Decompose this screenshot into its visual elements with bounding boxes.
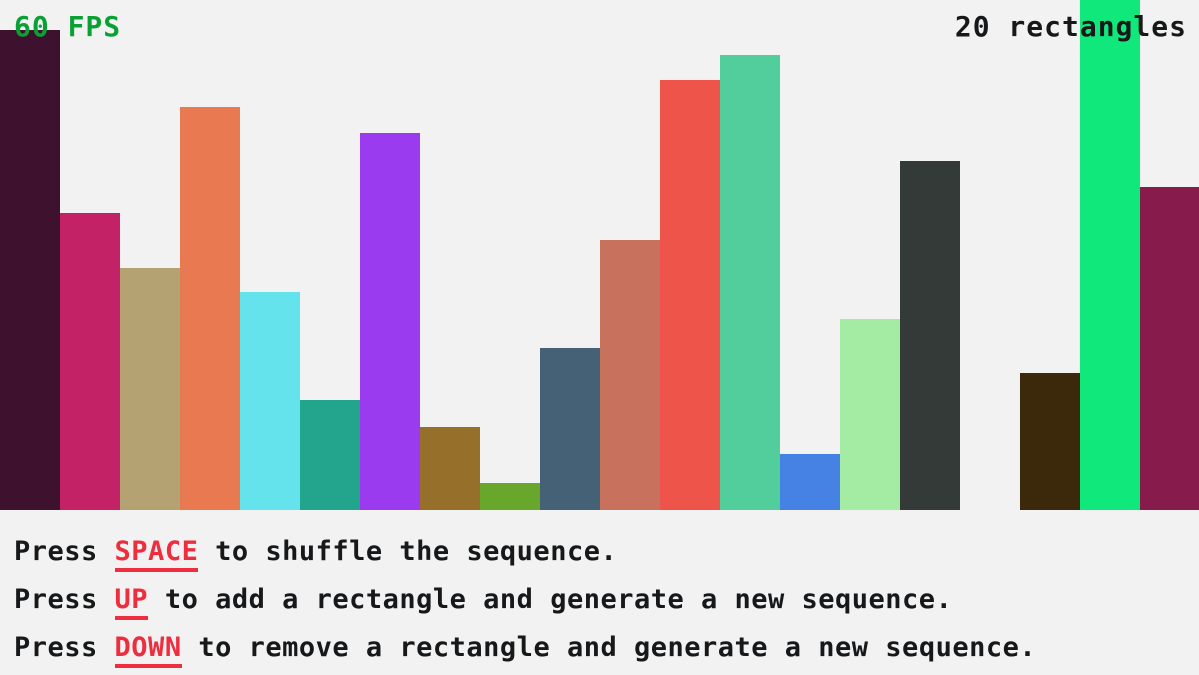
instruction-suffix: to remove a rectangle and generate a new… <box>182 632 1037 663</box>
bar-rectangle <box>540 348 600 510</box>
key-space[interactable]: SPACE <box>115 536 199 572</box>
bar-rectangle <box>360 133 420 510</box>
fps-counter: 60 FPS <box>14 12 121 42</box>
bar-rectangle <box>900 161 960 510</box>
bar-rectangle <box>1020 373 1080 510</box>
bar-rectangle <box>300 400 360 510</box>
instruction-prefix: Press <box>14 632 115 663</box>
bar-chart-canvas[interactable] <box>0 0 1199 510</box>
bar-rectangle <box>180 107 240 510</box>
rectangle-count-label: 20 rectangles <box>955 12 1187 42</box>
bar-rectangle <box>780 454 840 510</box>
instruction-line-add: Press UP to add a rectangle and generate… <box>14 576 1199 624</box>
instruction-suffix: to add a rectangle and generate a new se… <box>148 584 952 615</box>
rectangle-visualizer-app: 60 FPS 20 rectangles Press SPACE to shuf… <box>0 0 1199 675</box>
key-up[interactable]: UP <box>115 584 149 620</box>
instructions-panel: Press SPACE to shuffle the sequence. Pre… <box>0 512 1199 675</box>
bar-rectangle <box>0 30 60 510</box>
instruction-line-remove: Press DOWN to remove a rectangle and gen… <box>14 624 1199 672</box>
bar-rectangle <box>60 213 120 510</box>
instruction-prefix: Press <box>14 584 115 615</box>
instruction-prefix: Press <box>14 536 115 567</box>
bar-rectangle <box>720 55 780 510</box>
bar-rectangle <box>420 427 480 510</box>
instruction-suffix: to shuffle the sequence. <box>198 536 617 567</box>
instruction-line-shuffle: Press SPACE to shuffle the sequence. <box>14 528 1199 576</box>
bar-rectangle <box>600 240 660 510</box>
bar-rectangle <box>240 292 300 510</box>
bar-rectangle <box>1140 187 1199 510</box>
bar-rectangle <box>480 483 540 510</box>
bar-rectangle <box>1080 0 1140 510</box>
bar-rectangle <box>120 268 180 510</box>
bar-rectangle <box>660 80 720 510</box>
bar-rectangle <box>840 319 900 510</box>
key-down[interactable]: DOWN <box>115 632 182 668</box>
